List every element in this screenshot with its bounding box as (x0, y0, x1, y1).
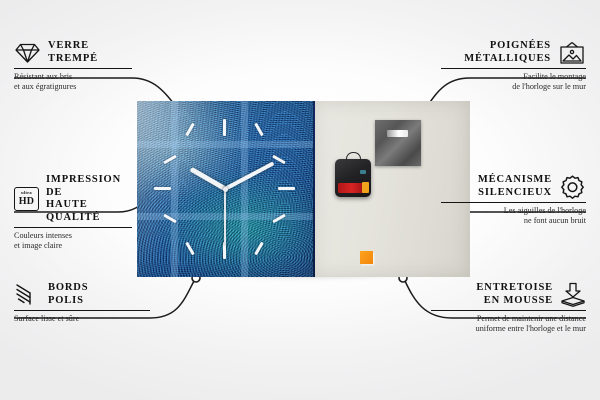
feature-impression-haute-qualite: ultra HD IMPRESSION DE HAUTE QUALITÉ Cou… (14, 174, 132, 251)
feature-title: VERRE TREMPÉ (48, 40, 98, 65)
tick-mark (278, 187, 295, 190)
divider (14, 227, 132, 228)
feature-description: Couleurs intenses et image claire (14, 231, 132, 251)
feature-poignees-metalliques: POIGNÉES MÉTALLIQUES Facilite le montage… (441, 40, 586, 92)
infographic-canvas: VERRE TREMPÉ Résistant aux bris et aux é… (0, 0, 600, 400)
feature-bords-polis: BORDS POLIS Surface lisse et sûre (14, 282, 150, 324)
feature-title: MÉCANISME SILENCIEUX (478, 174, 552, 199)
metal-hanger-plate (375, 120, 421, 166)
panel-edge (313, 101, 315, 277)
feature-description: Surface lisse et sûre (14, 314, 150, 324)
feature-mecanisme-silencieux: MÉCANISME SILENCIEUX Les aiguilles de l'… (441, 174, 586, 226)
product-image (137, 101, 470, 277)
clock-face (137, 101, 313, 277)
tick-mark (154, 187, 171, 190)
diamond-icon (14, 42, 41, 64)
ultra-hd-icon-main: HD (19, 197, 35, 207)
divider (441, 68, 586, 69)
tick-mark (223, 119, 226, 136)
divider (441, 202, 586, 203)
foam-spacer-pad (360, 251, 373, 264)
divider (431, 310, 586, 311)
divider (14, 68, 132, 69)
movement-hook (346, 152, 361, 161)
movement-label (360, 170, 366, 174)
hands-center-cap (223, 187, 228, 192)
polished-edges-icon (14, 283, 41, 307)
tick-mark (223, 242, 226, 259)
hanger-slot (387, 130, 408, 137)
divider (14, 310, 150, 311)
feature-entretoise-en-mousse: ENTRETOISE EN MOUSSE Permet de maintenir… (431, 282, 586, 334)
feature-title: ENTRETOISE EN MOUSSE (476, 282, 553, 307)
gear-icon (559, 174, 586, 199)
feature-title: POIGNÉES MÉTALLIQUES (464, 40, 551, 65)
feature-title: IMPRESSION DE HAUTE QUALITÉ (46, 174, 132, 224)
battery-terminal (362, 182, 369, 193)
battery (338, 183, 368, 193)
feature-description: Résistant aux bris et aux égratignures (14, 72, 132, 92)
second-hand (224, 189, 225, 244)
foam-spacer-icon (560, 282, 586, 307)
ultra-hd-icon: ultra HD (14, 187, 39, 211)
picture-hanger-icon (558, 41, 586, 65)
feature-title: BORDS POLIS (48, 282, 88, 307)
feature-verre-trempe: VERRE TREMPÉ Résistant aux bris et aux é… (14, 40, 132, 92)
feature-description: Permet de maintenir une distance uniform… (431, 314, 586, 334)
feature-description: Les aiguilles de l'horloge ne font aucun… (441, 206, 586, 226)
quartz-movement (335, 159, 371, 197)
feature-description: Facilite le montage de l'horloge sur le … (441, 72, 586, 92)
